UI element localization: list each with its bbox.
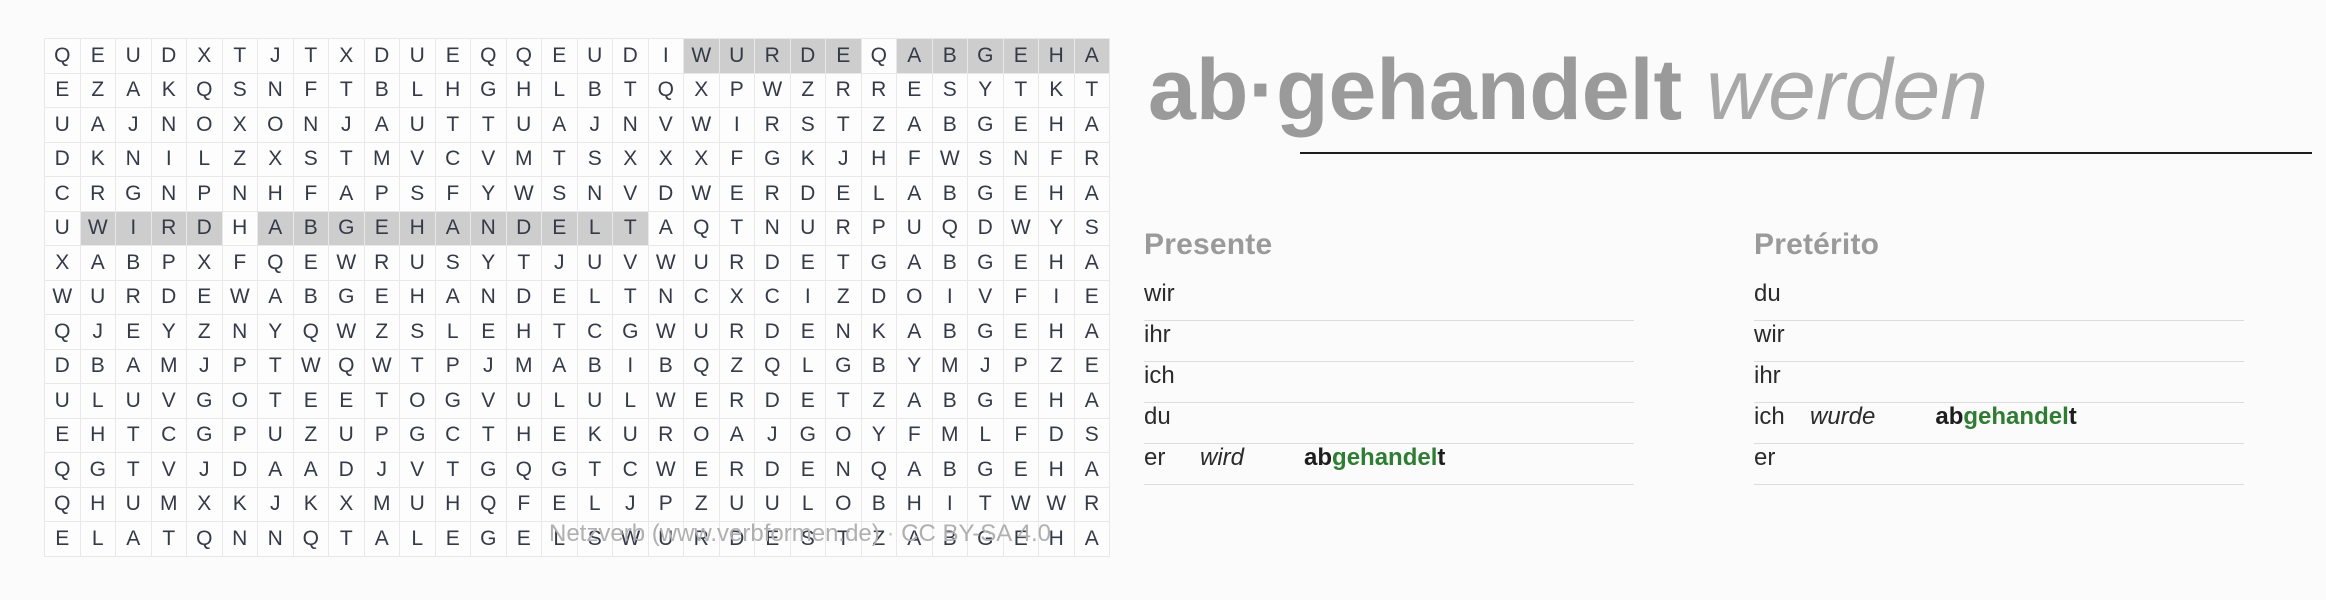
grid-cell[interactable]: N — [826, 453, 862, 488]
grid-cell[interactable]: A — [258, 280, 294, 315]
grid-cell[interactable]: Y — [151, 315, 187, 350]
grid-cell[interactable]: J — [80, 315, 116, 350]
grid-cell[interactable]: Q — [861, 453, 897, 488]
grid-cell[interactable]: U — [613, 418, 649, 453]
grid-cell[interactable]: A — [897, 384, 933, 419]
grid-cell[interactable]: J — [968, 349, 1004, 384]
grid-cell[interactable]: G — [471, 73, 507, 108]
grid-cell[interactable]: Z — [222, 142, 258, 177]
grid-cell[interactable]: A — [1074, 39, 1110, 74]
grid-cell[interactable]: A — [719, 418, 755, 453]
grid-cell[interactable]: L — [613, 384, 649, 419]
grid-cell[interactable]: R — [861, 73, 897, 108]
grid-cell[interactable]: S — [400, 315, 436, 350]
grid-cell[interactable]: W — [648, 315, 684, 350]
grid-cell[interactable]: M — [932, 349, 968, 384]
grid-cell[interactable]: B — [116, 246, 152, 281]
grid-cell[interactable]: P — [1003, 349, 1039, 384]
grid-cell[interactable]: F — [435, 177, 471, 212]
grid-cell[interactable]: F — [897, 418, 933, 453]
grid-cell[interactable]: Z — [826, 280, 862, 315]
grid-cell[interactable]: A — [1074, 108, 1110, 143]
grid-cell[interactable]: O — [187, 108, 223, 143]
grid-cell[interactable]: W — [1003, 487, 1039, 522]
grid-cell[interactable]: E — [364, 211, 400, 246]
grid-cell[interactable]: K — [577, 418, 613, 453]
grid-cell[interactable]: Y — [1039, 211, 1075, 246]
grid-cell[interactable]: A — [258, 453, 294, 488]
grid-cell[interactable]: X — [648, 142, 684, 177]
grid-cell[interactable]: R — [719, 246, 755, 281]
grid-cell[interactable]: Z — [719, 349, 755, 384]
grid-cell[interactable]: I — [116, 211, 152, 246]
grid-cell[interactable]: L — [577, 487, 613, 522]
grid-cell[interactable]: T — [542, 315, 578, 350]
grid-cell[interactable]: T — [471, 418, 507, 453]
grid-cell[interactable]: Q — [471, 487, 507, 522]
grid-cell[interactable]: L — [577, 211, 613, 246]
grid-cell[interactable]: A — [542, 108, 578, 143]
grid-cell[interactable]: W — [1003, 211, 1039, 246]
grid-cell[interactable]: W — [648, 384, 684, 419]
grid-cell[interactable]: A — [1074, 315, 1110, 350]
grid-cell[interactable]: K — [80, 142, 116, 177]
grid-cell[interactable]: M — [151, 487, 187, 522]
grid-cell[interactable]: J — [471, 349, 507, 384]
grid-cell[interactable]: H — [897, 487, 933, 522]
grid-cell[interactable]: K — [222, 487, 258, 522]
grid-cell[interactable]: X — [222, 108, 258, 143]
grid-cell[interactable]: Q — [471, 39, 507, 74]
grid-cell[interactable]: A — [80, 108, 116, 143]
grid-cell[interactable]: Q — [45, 315, 81, 350]
grid-cell[interactable]: D — [755, 246, 791, 281]
grid-cell[interactable]: E — [116, 315, 152, 350]
grid-cell[interactable]: B — [577, 349, 613, 384]
grid-cell[interactable]: T — [719, 211, 755, 246]
grid-cell[interactable]: R — [151, 211, 187, 246]
grid-cell[interactable]: M — [364, 142, 400, 177]
grid-cell[interactable]: F — [293, 177, 329, 212]
grid-cell[interactable]: X — [187, 246, 223, 281]
grid-cell[interactable]: R — [719, 315, 755, 350]
grid-cell[interactable]: E — [1074, 280, 1110, 315]
grid-cell[interactable]: T — [116, 453, 152, 488]
grid-cell[interactable]: G — [80, 453, 116, 488]
grid-cell[interactable]: W — [1039, 487, 1075, 522]
grid-cell[interactable]: B — [932, 177, 968, 212]
grid-cell[interactable]: T — [364, 384, 400, 419]
grid-cell[interactable]: Q — [45, 487, 81, 522]
grid-cell[interactable]: L — [577, 280, 613, 315]
grid-cell[interactable]: F — [719, 142, 755, 177]
grid-cell[interactable]: J — [187, 349, 223, 384]
grid-cell[interactable]: D — [45, 349, 81, 384]
grid-cell[interactable]: H — [1039, 453, 1075, 488]
grid-cell[interactable]: G — [329, 280, 365, 315]
grid-cell[interactable]: A — [435, 280, 471, 315]
grid-cell[interactable]: G — [968, 177, 1004, 212]
grid-cell[interactable]: G — [968, 246, 1004, 281]
grid-cell[interactable]: B — [861, 487, 897, 522]
grid-cell[interactable]: Q — [293, 315, 329, 350]
grid-cell[interactable]: X — [613, 142, 649, 177]
grid-cell[interactable]: Q — [187, 73, 223, 108]
grid-cell[interactable]: H — [1039, 177, 1075, 212]
grid-cell[interactable]: L — [790, 487, 826, 522]
grid-cell[interactable]: N — [577, 177, 613, 212]
grid-cell[interactable]: N — [613, 108, 649, 143]
grid-cell[interactable]: O — [400, 384, 436, 419]
grid-cell[interactable]: B — [932, 384, 968, 419]
grid-cell[interactable]: R — [648, 418, 684, 453]
grid-cell[interactable]: E — [542, 211, 578, 246]
grid-cell[interactable]: P — [719, 73, 755, 108]
grid-cell[interactable]: U — [400, 108, 436, 143]
grid-cell[interactable]: T — [826, 108, 862, 143]
grid-cell[interactable]: K — [1039, 73, 1075, 108]
grid-cell[interactable]: Q — [329, 349, 365, 384]
grid-cell[interactable]: J — [187, 453, 223, 488]
grid-cell[interactable]: E — [471, 315, 507, 350]
grid-cell[interactable]: E — [1003, 108, 1039, 143]
grid-cell[interactable]: L — [542, 384, 578, 419]
grid-cell[interactable]: S — [1074, 211, 1110, 246]
grid-cell[interactable]: T — [400, 349, 436, 384]
grid-cell[interactable]: N — [222, 177, 258, 212]
grid-cell[interactable]: S — [435, 246, 471, 281]
grid-cell[interactable]: D — [755, 384, 791, 419]
grid-cell[interactable]: E — [826, 177, 862, 212]
grid-cell[interactable]: L — [542, 73, 578, 108]
grid-cell[interactable]: I — [1039, 280, 1075, 315]
grid-cell[interactable]: A — [329, 177, 365, 212]
grid-cell[interactable]: W — [329, 315, 365, 350]
grid-cell[interactable]: G — [861, 246, 897, 281]
grid-cell[interactable]: A — [116, 349, 152, 384]
grid-cell[interactable]: Z — [861, 108, 897, 143]
grid-cell[interactable]: U — [719, 487, 755, 522]
grid-cell[interactable]: J — [826, 142, 862, 177]
grid-cell[interactable]: H — [400, 280, 436, 315]
grid-cell[interactable]: T — [1003, 73, 1039, 108]
grid-cell[interactable]: D — [790, 177, 826, 212]
grid-cell[interactable]: H — [506, 418, 542, 453]
grid-cell[interactable]: D — [968, 211, 1004, 246]
grid-cell[interactable]: V — [613, 246, 649, 281]
grid-cell[interactable]: J — [613, 487, 649, 522]
grid-cell[interactable]: J — [258, 39, 294, 74]
grid-cell[interactable]: X — [719, 280, 755, 315]
grid-cell[interactable]: T — [116, 418, 152, 453]
grid-cell[interactable]: E — [80, 39, 116, 74]
grid-cell[interactable]: Y — [258, 315, 294, 350]
grid-cell[interactable]: E — [45, 73, 81, 108]
grid-cell[interactable]: B — [932, 108, 968, 143]
grid-cell[interactable]: H — [222, 211, 258, 246]
grid-cell[interactable]: X — [187, 487, 223, 522]
grid-cell[interactable]: O — [222, 384, 258, 419]
grid-cell[interactable]: W — [506, 177, 542, 212]
grid-cell[interactable]: E — [826, 39, 862, 74]
grid-cell[interactable]: D — [755, 453, 791, 488]
grid-cell[interactable]: G — [968, 315, 1004, 350]
grid-cell[interactable]: E — [45, 418, 81, 453]
grid-cell[interactable]: E — [542, 487, 578, 522]
grid-cell[interactable]: A — [897, 315, 933, 350]
grid-cell[interactable]: J — [577, 108, 613, 143]
grid-cell[interactable]: G — [968, 39, 1004, 74]
grid-cell[interactable]: T — [613, 73, 649, 108]
grid-cell[interactable]: D — [1039, 418, 1075, 453]
grid-cell[interactable]: E — [187, 280, 223, 315]
grid-cell[interactable]: D — [613, 39, 649, 74]
grid-cell[interactable]: T — [542, 142, 578, 177]
grid-cell[interactable]: U — [684, 246, 720, 281]
grid-cell[interactable]: F — [222, 246, 258, 281]
grid-cell[interactable]: Z — [861, 384, 897, 419]
grid-cell[interactable]: G — [329, 211, 365, 246]
grid-cell[interactable]: Q — [932, 211, 968, 246]
grid-cell[interactable]: E — [329, 384, 365, 419]
grid-cell[interactable]: E — [719, 177, 755, 212]
grid-cell[interactable]: L — [80, 384, 116, 419]
grid-cell[interactable]: X — [258, 142, 294, 177]
grid-cell[interactable]: D — [506, 280, 542, 315]
grid-cell[interactable]: U — [116, 39, 152, 74]
grid-cell[interactable]: E — [1003, 246, 1039, 281]
grid-cell[interactable]: M — [932, 418, 968, 453]
grid-cell[interactable]: A — [1074, 384, 1110, 419]
grid-cell[interactable]: R — [826, 73, 862, 108]
grid-cell[interactable]: P — [151, 246, 187, 281]
grid-cell[interactable]: A — [80, 246, 116, 281]
grid-cell[interactable]: U — [684, 315, 720, 350]
grid-cell[interactable]: G — [435, 384, 471, 419]
grid-cell[interactable]: T — [968, 487, 1004, 522]
grid-cell[interactable]: V — [400, 453, 436, 488]
grid-cell[interactable]: F — [1003, 280, 1039, 315]
grid-cell[interactable]: B — [861, 349, 897, 384]
grid-cell[interactable]: K — [151, 73, 187, 108]
grid-cell[interactable]: E — [684, 453, 720, 488]
grid-cell[interactable]: S — [968, 142, 1004, 177]
grid-cell[interactable]: N — [222, 315, 258, 350]
grid-cell[interactable]: F — [506, 487, 542, 522]
grid-cell[interactable]: T — [435, 453, 471, 488]
grid-cell[interactable]: U — [755, 487, 791, 522]
grid-cell[interactable]: X — [329, 487, 365, 522]
grid-cell[interactable]: R — [364, 246, 400, 281]
grid-cell[interactable]: Q — [258, 246, 294, 281]
grid-cell[interactable]: A — [116, 73, 152, 108]
grid-cell[interactable]: E — [684, 384, 720, 419]
grid-cell[interactable]: J — [116, 108, 152, 143]
grid-cell[interactable]: U — [719, 39, 755, 74]
grid-cell[interactable]: R — [719, 453, 755, 488]
grid-cell[interactable]: E — [790, 453, 826, 488]
grid-cell[interactable]: H — [80, 418, 116, 453]
grid-cell[interactable]: W — [648, 246, 684, 281]
grid-cell[interactable]: D — [151, 280, 187, 315]
grid-cell[interactable]: P — [222, 418, 258, 453]
grid-cell[interactable]: B — [364, 73, 400, 108]
grid-cell[interactable]: G — [471, 453, 507, 488]
grid-cell[interactable]: Y — [968, 73, 1004, 108]
grid-cell[interactable]: N — [471, 211, 507, 246]
grid-cell[interactable]: H — [258, 177, 294, 212]
grid-cell[interactable]: G — [613, 315, 649, 350]
grid-cell[interactable]: R — [755, 177, 791, 212]
grid-cell[interactable]: T — [222, 39, 258, 74]
grid-cell[interactable]: T — [293, 39, 329, 74]
grid-cell[interactable]: G — [826, 349, 862, 384]
grid-cell[interactable]: M — [506, 142, 542, 177]
grid-cell[interactable]: A — [897, 453, 933, 488]
grid-cell[interactable]: A — [1074, 177, 1110, 212]
grid-cell[interactable]: X — [684, 142, 720, 177]
grid-cell[interactable]: A — [293, 453, 329, 488]
grid-cell[interactable]: S — [577, 142, 613, 177]
grid-cell[interactable]: D — [506, 211, 542, 246]
grid-cell[interactable]: H — [400, 211, 436, 246]
grid-cell[interactable]: U — [258, 418, 294, 453]
grid-cell[interactable]: O — [684, 418, 720, 453]
grid-cell[interactable]: Q — [684, 349, 720, 384]
grid-cell[interactable]: E — [1003, 315, 1039, 350]
grid-cell[interactable]: N — [1003, 142, 1039, 177]
grid-cell[interactable]: J — [329, 108, 365, 143]
grid-cell[interactable]: T — [613, 211, 649, 246]
grid-cell[interactable]: S — [222, 73, 258, 108]
grid-cell[interactable]: F — [293, 73, 329, 108]
grid-cell[interactable]: E — [790, 384, 826, 419]
grid-cell[interactable]: L — [400, 73, 436, 108]
grid-cell[interactable]: E — [542, 418, 578, 453]
grid-cell[interactable]: U — [506, 384, 542, 419]
grid-cell[interactable]: C — [684, 280, 720, 315]
grid-cell[interactable]: T — [435, 108, 471, 143]
grid-cell[interactable]: F — [1003, 418, 1039, 453]
grid-cell[interactable]: D — [861, 280, 897, 315]
grid-cell[interactable]: S — [400, 177, 436, 212]
grid-cell[interactable]: B — [577, 73, 613, 108]
grid-cell[interactable]: A — [435, 211, 471, 246]
grid-cell[interactable]: H — [435, 73, 471, 108]
grid-cell[interactable]: I — [719, 108, 755, 143]
grid-cell[interactable]: G — [187, 418, 223, 453]
grid-cell[interactable]: U — [400, 39, 436, 74]
grid-cell[interactable]: P — [648, 487, 684, 522]
grid-cell[interactable]: O — [826, 418, 862, 453]
grid-cell[interactable]: T — [471, 108, 507, 143]
grid-cell[interactable]: Z — [1039, 349, 1075, 384]
grid-cell[interactable]: C — [755, 280, 791, 315]
grid-cell[interactable]: E — [542, 39, 578, 74]
grid-cell[interactable]: J — [542, 246, 578, 281]
grid-cell[interactable]: D — [187, 211, 223, 246]
grid-cell[interactable]: B — [293, 211, 329, 246]
grid-cell[interactable]: W — [222, 280, 258, 315]
grid-cell[interactable]: O — [826, 487, 862, 522]
grid-cell[interactable]: R — [80, 177, 116, 212]
grid-cell[interactable]: U — [80, 280, 116, 315]
grid-cell[interactable]: X — [45, 246, 81, 281]
grid-cell[interactable]: N — [293, 108, 329, 143]
grid-cell[interactable]: R — [116, 280, 152, 315]
grid-cell[interactable]: W — [648, 453, 684, 488]
grid-cell[interactable]: S — [1074, 418, 1110, 453]
grid-cell[interactable]: D — [222, 453, 258, 488]
grid-cell[interactable]: G — [400, 418, 436, 453]
grid-cell[interactable]: G — [187, 384, 223, 419]
grid-cell[interactable]: D — [45, 142, 81, 177]
grid-cell[interactable]: U — [45, 211, 81, 246]
grid-cell[interactable]: B — [932, 315, 968, 350]
grid-cell[interactable]: H — [861, 142, 897, 177]
grid-cell[interactable]: A — [364, 108, 400, 143]
grid-cell[interactable]: C — [613, 453, 649, 488]
grid-cell[interactable]: N — [826, 315, 862, 350]
grid-cell[interactable]: Y — [471, 177, 507, 212]
grid-cell[interactable]: V — [968, 280, 1004, 315]
grid-cell[interactable]: I — [932, 280, 968, 315]
grid-cell[interactable]: E — [790, 246, 826, 281]
grid-cell[interactable]: P — [187, 177, 223, 212]
grid-cell[interactable]: N — [471, 280, 507, 315]
grid-cell[interactable]: E — [1003, 177, 1039, 212]
grid-cell[interactable]: G — [968, 108, 1004, 143]
grid-cell[interactable]: E — [1074, 349, 1110, 384]
grid-cell[interactable]: O — [897, 280, 933, 315]
grid-cell[interactable]: R — [1074, 487, 1110, 522]
grid-cell[interactable]: C — [435, 418, 471, 453]
grid-cell[interactable]: W — [684, 108, 720, 143]
grid-cell[interactable]: L — [187, 142, 223, 177]
grid-cell[interactable]: V — [648, 108, 684, 143]
grid-cell[interactable]: H — [506, 315, 542, 350]
grid-cell[interactable]: I — [932, 487, 968, 522]
grid-cell[interactable]: E — [293, 384, 329, 419]
grid-cell[interactable]: L — [861, 177, 897, 212]
grid-cell[interactable]: U — [45, 384, 81, 419]
grid-cell[interactable]: B — [932, 246, 968, 281]
grid-cell[interactable]: N — [648, 280, 684, 315]
grid-cell[interactable]: A — [648, 211, 684, 246]
grid-cell[interactable]: Y — [861, 418, 897, 453]
grid-cell[interactable]: T — [577, 453, 613, 488]
grid-cell[interactable]: J — [258, 487, 294, 522]
grid-cell[interactable]: K — [790, 142, 826, 177]
grid-cell[interactable]: U — [400, 246, 436, 281]
grid-cell[interactable]: P — [364, 177, 400, 212]
grid-cell[interactable]: Q — [861, 39, 897, 74]
grid-cell[interactable]: R — [826, 211, 862, 246]
grid-cell[interactable]: R — [755, 39, 791, 74]
grid-cell[interactable]: B — [80, 349, 116, 384]
grid-cell[interactable]: H — [1039, 39, 1075, 74]
grid-cell[interactable]: M — [364, 487, 400, 522]
grid-cell[interactable]: W — [364, 349, 400, 384]
grid-cell[interactable]: H — [1039, 384, 1075, 419]
grid-cell[interactable]: R — [1074, 142, 1110, 177]
grid-cell[interactable]: S — [790, 108, 826, 143]
grid-cell[interactable]: U — [577, 384, 613, 419]
grid-cell[interactable]: Q — [506, 453, 542, 488]
grid-cell[interactable]: A — [1074, 453, 1110, 488]
grid-cell[interactable]: T — [613, 280, 649, 315]
grid-cell[interactable]: I — [648, 39, 684, 74]
